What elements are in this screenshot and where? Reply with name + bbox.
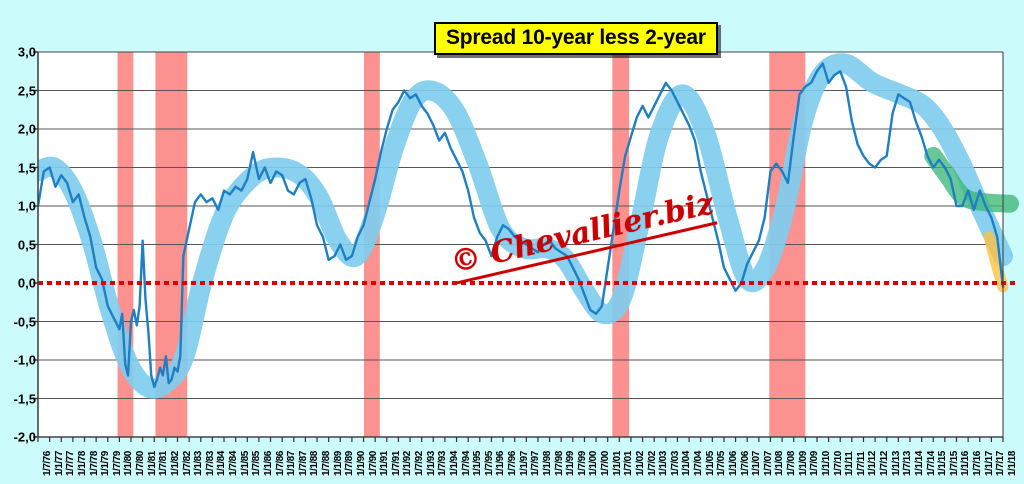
y-axis-tick-label: 1,0 (4, 199, 36, 214)
chart-plot-area (0, 0, 1024, 484)
y-axis-tick-label: -1,5 (4, 391, 36, 406)
chart-page: Spread 10-year less 2-year 3,02,52,01,51… (0, 0, 1024, 484)
chart-title: Spread 10-year less 2-year (434, 22, 718, 55)
y-axis-tick-label: 0,0 (4, 276, 36, 291)
y-axis-labels: 3,02,52,01,51,00,50,0-0,5-1,0-1,5-2,0 (0, 0, 36, 484)
y-axis-tick-label: 2,5 (4, 83, 36, 98)
y-axis-tick-label: 1,5 (4, 160, 36, 175)
y-axis-tick-label: -1,0 (4, 353, 36, 368)
y-axis-tick-label: 3,0 (4, 45, 36, 60)
y-axis-tick-label: 0,5 (4, 237, 36, 252)
y-axis-tick-label: -2,0 (4, 430, 36, 445)
y-axis-tick-label: -0,5 (4, 314, 36, 329)
y-axis-tick-label: 2,0 (4, 122, 36, 137)
